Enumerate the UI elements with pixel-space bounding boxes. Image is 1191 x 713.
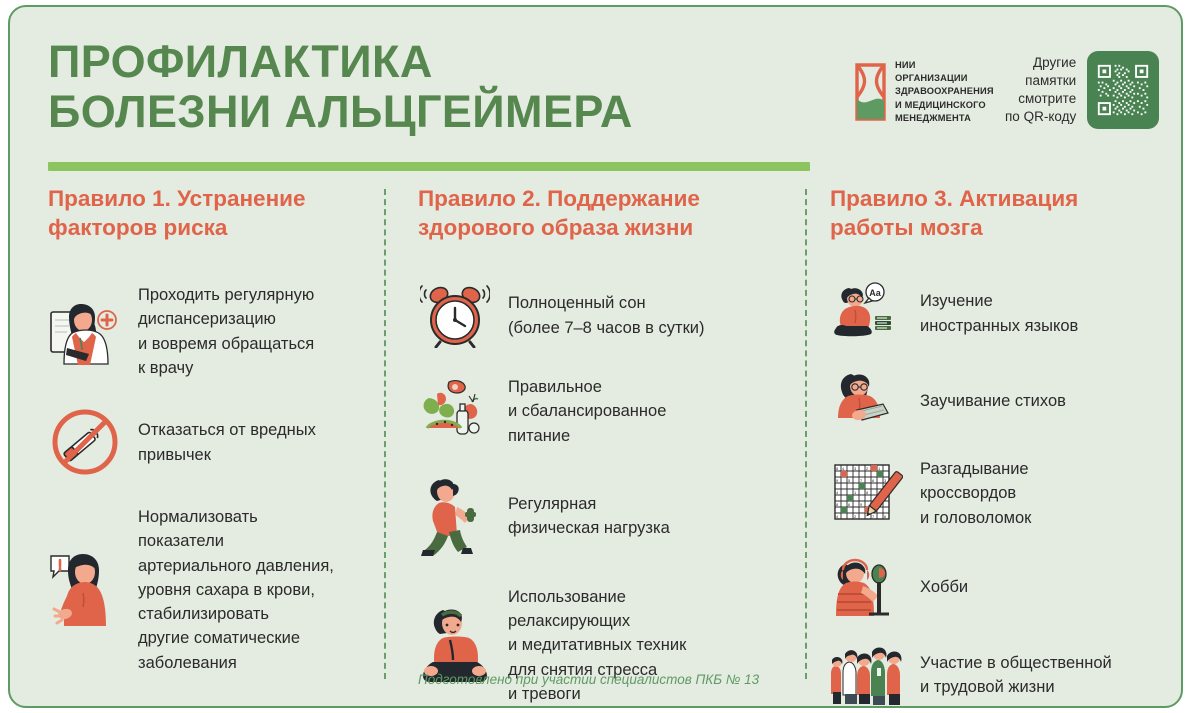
group-of-people-icon bbox=[830, 644, 904, 706]
heading-line: Правило 2. Поддержание bbox=[418, 185, 786, 214]
woman-writing-icon bbox=[830, 370, 904, 430]
column-rule-1: Правило 1. Устранение факторов риска bbox=[48, 185, 378, 695]
text-line: и трудовой жизни bbox=[920, 675, 1112, 699]
logo-line: МЕНЕДЖМЕНТА bbox=[895, 113, 971, 123]
qr-caption: Другие памятки смотрите по QR-коду bbox=[1005, 54, 1076, 126]
text-line: привычек bbox=[138, 443, 316, 467]
list-item: Нормализовать показатели артериального д… bbox=[48, 504, 378, 675]
text-line: Использование bbox=[508, 585, 686, 609]
list-item-text: Хобби bbox=[920, 574, 968, 599]
logo-line: ОРГАНИЗАЦИИ bbox=[895, 73, 968, 83]
text-line: к врачу bbox=[138, 356, 314, 380]
footer-note: Подготовлено при участии специалистов ПК… bbox=[418, 672, 759, 687]
title-line-1: ПРОФИЛАКТИКА bbox=[48, 37, 808, 87]
man-reading-books-icon: Aa bbox=[830, 282, 904, 344]
text-line: артериального давления, bbox=[138, 554, 334, 578]
text-line: Нормализовать bbox=[138, 505, 334, 529]
text-line: (более 7–8 часов в сутки) bbox=[508, 316, 705, 340]
list-item-text: Отказаться от вредных привычек bbox=[138, 417, 316, 467]
heading-line: Правило 3. Активация bbox=[830, 185, 1175, 214]
list-item-text: Регулярная физическая нагрузка bbox=[508, 491, 670, 541]
list-item: Использование релаксирующих и медитативн… bbox=[418, 584, 786, 706]
list-item: Заучивание стихов bbox=[830, 370, 1175, 430]
heading-line: здорового образа жизни bbox=[418, 214, 786, 243]
list-item-text: Заучивание стихов bbox=[920, 388, 1066, 413]
list-item: Хобби bbox=[830, 556, 1175, 618]
list-item-text: Полноценный сон (более 7–8 часов в сутки… bbox=[508, 290, 705, 340]
column-heading-3: Правило 3. Активация работы мозга bbox=[830, 185, 1175, 242]
text-line: Проходить регулярную bbox=[138, 283, 314, 307]
text-line: Изучение bbox=[920, 289, 1078, 313]
alarm-clock-icon bbox=[418, 282, 492, 348]
list-item-text: Правильное и сбалансированное питание bbox=[508, 374, 666, 448]
list-item-text: Участие в общественной и трудовой жизни bbox=[920, 650, 1112, 700]
institute-logo-text: НИИ ОРГАНИЗАЦИИ ЗДРАВООХРАНЕНИЯ И МЕДИЦИ… bbox=[895, 59, 994, 125]
text-line: релаксирующих bbox=[508, 609, 686, 633]
rules-columns: Правило 1. Устранение факторов риска bbox=[10, 185, 1181, 695]
title-line-2: БОЛЕЗНИ АЛЬЦГЕЙМЕРА bbox=[48, 87, 808, 137]
list-item: Aa Изучение иностранных языков bbox=[830, 282, 1175, 344]
doctor-clipboard-icon bbox=[48, 290, 122, 372]
text-line: и сбалансированное bbox=[508, 399, 666, 423]
text-line: и вовремя обращаться bbox=[138, 332, 314, 356]
qr-callout: Другие памятки смотрите по QR-коду bbox=[1005, 51, 1159, 129]
column-divider-2 bbox=[805, 189, 807, 679]
list-item: Правильное и сбалансированное питание bbox=[418, 374, 786, 448]
text-line: Полноценный сон bbox=[508, 291, 705, 315]
text-line: Правильное bbox=[508, 375, 666, 399]
qr-caption-line: по QR-коду bbox=[1005, 109, 1076, 124]
healthy-food-icon bbox=[418, 376, 492, 446]
text-line: стабилизировать bbox=[138, 602, 334, 626]
institute-logo: НИИ ОРГАНИЗАЦИИ ЗДРАВООХРАНЕНИЯ И МЕДИЦИ… bbox=[855, 59, 994, 125]
poster-canvas: ПРОФИЛАКТИКА БОЛЕЗНИ АЛЬЦГЕЙМЕРА НИИ ОРГ… bbox=[8, 5, 1183, 708]
qr-caption-line: Другие bbox=[1033, 55, 1076, 70]
text-line: Хобби bbox=[920, 575, 968, 599]
poster-header: ПРОФИЛАКТИКА БОЛЕЗНИ АЛЬЦГЕЙМЕРА НИИ ОРГ… bbox=[10, 7, 1181, 167]
text-line: Отказаться от вредных bbox=[138, 418, 316, 442]
list-item: Регулярная физическая нагрузка bbox=[418, 474, 786, 558]
list-item: 843 21 957 63 418 2 869 5 427 6 bbox=[830, 456, 1175, 530]
logo-line: НИИ bbox=[895, 60, 916, 70]
logo-line: И МЕДИЦИНСКОГО bbox=[895, 100, 986, 110]
page-title: ПРОФИЛАКТИКА БОЛЕЗНИ АЛЬЦГЕЙМЕРА bbox=[48, 37, 808, 138]
text-line: показатели bbox=[138, 529, 334, 553]
list-item-text: Проходить регулярную диспансеризацию и в… bbox=[138, 282, 314, 380]
woman-blood-pressure-icon bbox=[48, 544, 122, 636]
qr-caption-line: памятки bbox=[1025, 73, 1076, 88]
text-line: и медитативных техник bbox=[508, 633, 686, 657]
heading-line: факторов риска bbox=[48, 214, 378, 243]
heading-line: работы мозга bbox=[830, 214, 1175, 243]
text-line: диспансеризацию bbox=[138, 307, 314, 331]
crossword-puzzle-icon: 843 21 957 63 418 2 869 5 427 6 bbox=[830, 461, 904, 525]
no-smoking-icon bbox=[48, 406, 122, 478]
title-underline-bar bbox=[48, 162, 810, 171]
text-line: уровня сахара в крови, bbox=[138, 578, 334, 602]
text-line: питание bbox=[508, 424, 666, 448]
heading-line: Правило 1. Устранение bbox=[48, 185, 378, 214]
list-item: Отказаться от вредных привычек bbox=[48, 406, 378, 478]
list-item: Проходить регулярную диспансеризацию и в… bbox=[48, 282, 378, 380]
list-item: Полноценный сон (более 7–8 часов в сутки… bbox=[418, 282, 786, 348]
column-heading-1: Правило 1. Устранение факторов риска bbox=[48, 185, 378, 242]
text-line: Заучивание стихов bbox=[920, 389, 1066, 413]
text-line: Разгадывание bbox=[920, 457, 1031, 481]
text-line: иностранных языков bbox=[920, 314, 1078, 338]
text-line: кроссвордов bbox=[920, 481, 1031, 505]
qr-code-icon[interactable] bbox=[1087, 51, 1159, 129]
list-item-text: Использование релаксирующих и медитативн… bbox=[508, 584, 686, 706]
list-item-text: Разгадывание кроссвордов и головоломок bbox=[920, 456, 1031, 530]
text-line: и головоломок bbox=[920, 506, 1031, 530]
text-line: заболевания bbox=[138, 651, 334, 675]
text-line: другие соматические bbox=[138, 626, 334, 650]
qr-caption-line: смотрите bbox=[1018, 91, 1076, 106]
logo-line: ЗДРАВООХРАНЕНИЯ bbox=[895, 86, 994, 96]
text-line: Участие в общественной bbox=[920, 651, 1112, 675]
column-rule-3: Правило 3. Активация работы мозга bbox=[830, 185, 1175, 695]
text-line: физическая нагрузка bbox=[508, 516, 670, 540]
column-divider-1 bbox=[384, 189, 386, 679]
column-rule-2: Правило 2. Поддержание здорового образа … bbox=[418, 185, 786, 695]
column-heading-2: Правило 2. Поддержание здорового образа … bbox=[418, 185, 786, 242]
hobby-microphone-icon bbox=[830, 556, 904, 618]
list-item-text: Изучение иностранных языков bbox=[920, 288, 1078, 338]
list-item-text: Нормализовать показатели артериального д… bbox=[138, 504, 334, 675]
book-logo-icon bbox=[855, 63, 886, 121]
svg-text:Aa: Aa bbox=[869, 288, 881, 298]
list-item: Участие в общественной и трудовой жизни bbox=[830, 644, 1175, 706]
text-line: Регулярная bbox=[508, 492, 670, 516]
exercise-dumbbell-icon bbox=[418, 474, 492, 558]
